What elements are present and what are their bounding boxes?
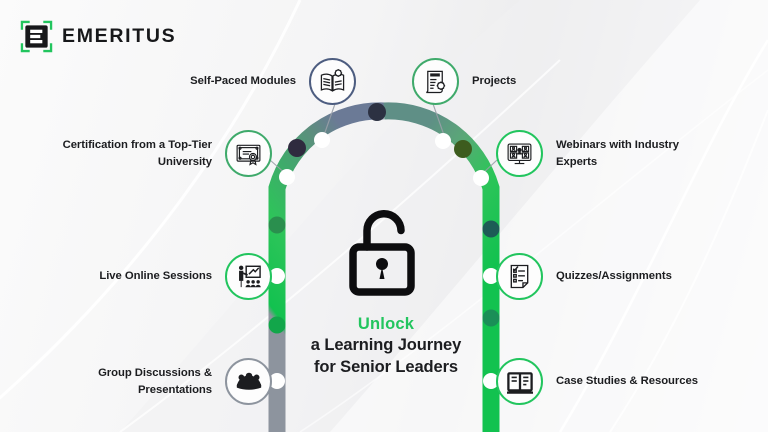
infographic-canvas: EMERITUS [0, 0, 768, 432]
feature-label-case-studies: Case Studies & Resources [556, 373, 698, 389]
open-padlock-icon [346, 205, 426, 297]
certificate-ribbon-icon[interactable] [225, 130, 272, 177]
open-book-icon[interactable] [496, 358, 543, 405]
headline-line-2: for Senior Leaders [290, 357, 482, 379]
headline-eyebrow: Unlock [290, 313, 482, 335]
checklist-document-icon[interactable] [496, 253, 543, 300]
feature-webinars[interactable]: Webinars with Industry Experts [496, 130, 746, 177]
feature-case-studies[interactable]: Case Studies & Resources [496, 358, 748, 405]
feature-label-live-online-sessions: Live Online Sessions [99, 268, 212, 284]
feature-certification[interactable]: Certification from a Top-Tier University [40, 130, 272, 177]
feature-projects[interactable]: Projects [412, 58, 648, 105]
feature-live-online-sessions[interactable]: Live Online Sessions [60, 253, 272, 300]
center-message: Unlock a Learning Journey for Senior Lea… [290, 205, 482, 379]
feature-label-group-discussions: Group Discussions & Presentations [50, 365, 212, 397]
feature-label-certification: Certification from a Top-Tier University [52, 137, 212, 169]
headline-group: Unlock a Learning Journey for Senior Lea… [290, 313, 482, 379]
headline-line-1: a Learning Journey [290, 335, 482, 357]
feature-self-paced-modules[interactable]: Self-Paced Modules [120, 58, 356, 105]
project-document-gear-icon[interactable] [412, 58, 459, 105]
video-conference-monitor-icon[interactable] [496, 130, 543, 177]
feature-label-quizzes-assignments: Quizzes/Assignments [556, 268, 672, 284]
book-with-gear-icon[interactable] [309, 58, 356, 105]
feature-label-projects: Projects [472, 73, 516, 89]
feature-label-self-paced-modules: Self-Paced Modules [190, 73, 296, 89]
presenter-whiteboard-icon[interactable] [225, 253, 272, 300]
feature-group-discussions[interactable]: Group Discussions & Presentations [50, 358, 272, 405]
group-people-icon[interactable] [225, 358, 272, 405]
feature-label-webinars: Webinars with Industry Experts [556, 137, 716, 169]
lock-icon-wrap [290, 205, 482, 297]
feature-quizzes-assignments[interactable]: Quizzes/Assignments [496, 253, 740, 300]
